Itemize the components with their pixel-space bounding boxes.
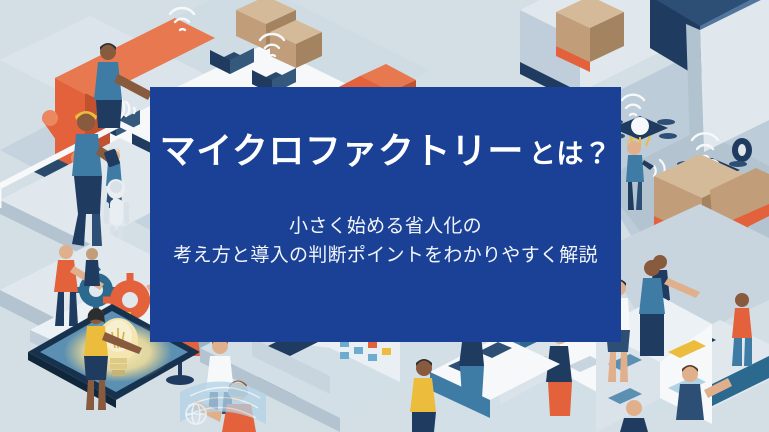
page-title-main: マイクロファクトリー bbox=[160, 133, 524, 169]
page-subtitle-line2: 考え方と導入の判断ポイントをわかりやすく解説 bbox=[173, 241, 598, 270]
page-subtitle: 小さく始める省人化の 考え方と導入の判断ポイントをわかりやすく解説 bbox=[173, 212, 598, 271]
page-title: マイクロファクトリーとは？ bbox=[160, 133, 612, 169]
article-hero-banner: マイクロファクトリーとは？ 小さく始める省人化の 考え方と導入の判断ポイントをわ… bbox=[0, 0, 769, 432]
page-title-suffix: とは？ bbox=[529, 141, 612, 168]
page-subtitle-line1: 小さく始める省人化の bbox=[173, 212, 598, 241]
title-panel: マイクロファクトリーとは？ 小さく始める省人化の 考え方と導入の判断ポイントをわ… bbox=[150, 87, 621, 342]
